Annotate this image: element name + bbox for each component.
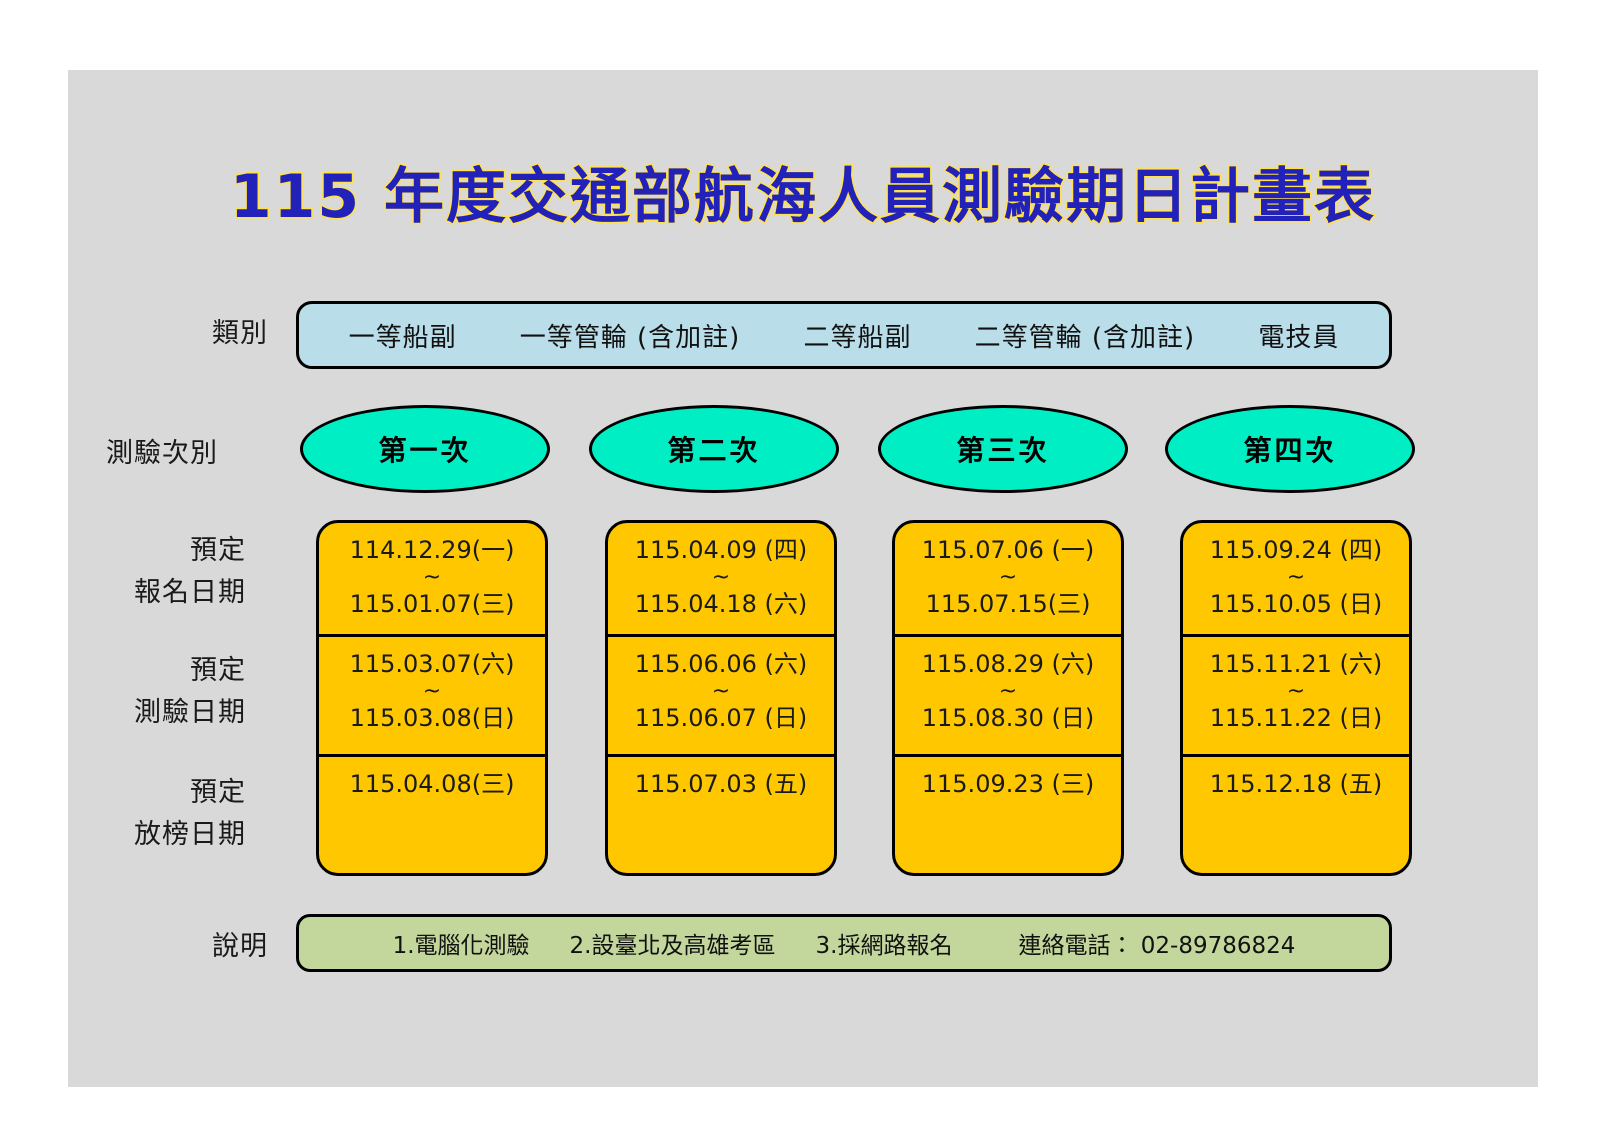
note-item-2: 3.採網路報名	[816, 926, 953, 960]
exam-end-4: 115.11.22 (日)	[1210, 704, 1383, 732]
date-column-session-3: 115.07.06 (一) ~ 115.07.15(三) 115.08.29 (…	[892, 520, 1124, 876]
exam-separator-4: ~	[1187, 681, 1405, 703]
session-ellipse-3: 第三次	[878, 405, 1128, 493]
exam-separator-1: ~	[323, 681, 541, 703]
exam-start-1: 115.03.07(六)	[350, 650, 515, 678]
registration-start-1: 114.12.29(一)	[350, 536, 515, 564]
row-label-notes: 說明	[68, 926, 268, 968]
session-ellipse-4: 第四次	[1165, 405, 1415, 493]
contact-phone: 連絡電話： 02-89786824	[1018, 926, 1295, 960]
exam-separator-3: ~	[899, 681, 1117, 703]
registration-separator-1: ~	[323, 567, 541, 589]
registration-cell-2: 115.04.09 (四) ~ 115.04.18 (六)	[608, 523, 834, 637]
exam-cell-4: 115.11.21 (六) ~ 115.11.22 (日)	[1183, 637, 1409, 757]
result-date-2: 115.07.03 (五)	[635, 770, 808, 798]
row-label-registration-line1: 預定	[46, 530, 246, 572]
notes-bar: 1.電腦化測驗 2.設臺北及高雄考區 3.採網路報名 連絡電話： 02-8978…	[296, 914, 1392, 972]
category-item-3: 二等管輪 (含加註)	[975, 317, 1196, 354]
row-label-result-line1: 預定	[46, 772, 246, 814]
row-label-session: 測驗次別	[18, 433, 218, 475]
row-label-exam-line2: 測驗日期	[6, 692, 246, 734]
date-column-session-2: 115.04.09 (四) ~ 115.04.18 (六) 115.06.06 …	[605, 520, 837, 876]
exam-end-3: 115.08.30 (日)	[922, 704, 1095, 732]
registration-start-3: 115.07.06 (一)	[922, 536, 1095, 564]
exam-start-4: 115.11.21 (六)	[1210, 650, 1383, 678]
result-cell-4: 115.12.18 (五)	[1183, 757, 1409, 873]
result-cell-1: 115.04.08(三)	[319, 757, 545, 873]
registration-cell-1: 114.12.29(一) ~ 115.01.07(三)	[319, 523, 545, 637]
registration-start-2: 115.04.09 (四)	[635, 536, 808, 564]
registration-end-1: 115.01.07(三)	[350, 590, 515, 618]
row-label-category: 類別	[68, 313, 268, 355]
row-label-exam-line1: 預定	[46, 650, 246, 692]
row-label-result-line2: 放榜日期	[6, 814, 246, 856]
registration-start-4: 115.09.24 (四)	[1210, 536, 1383, 564]
registration-end-2: 115.04.18 (六)	[635, 590, 808, 618]
date-column-session-1: 114.12.29(一) ~ 115.01.07(三) 115.03.07(六)…	[316, 520, 548, 876]
session-ellipse-1: 第一次	[300, 405, 550, 493]
result-date-1: 115.04.08(三)	[350, 770, 515, 798]
slide-canvas: 115 年度交通部航海人員測驗期日計畫表 類別 一等船副 一等管輪 (含加註) …	[68, 70, 1538, 1087]
result-date-3: 115.09.23 (三)	[922, 770, 1095, 798]
session-ellipse-2: 第二次	[589, 405, 839, 493]
exam-start-3: 115.08.29 (六)	[922, 650, 1095, 678]
date-column-session-4: 115.09.24 (四) ~ 115.10.05 (日) 115.11.21 …	[1180, 520, 1412, 876]
exam-cell-1: 115.03.07(六) ~ 115.03.08(日)	[319, 637, 545, 757]
exam-cell-2: 115.06.06 (六) ~ 115.06.07 (日)	[608, 637, 834, 757]
exam-separator-2: ~	[612, 681, 830, 703]
exam-end-2: 115.06.07 (日)	[635, 704, 808, 732]
registration-cell-3: 115.07.06 (一) ~ 115.07.15(三)	[895, 523, 1121, 637]
registration-separator-2: ~	[612, 567, 830, 589]
result-cell-3: 115.09.23 (三)	[895, 757, 1121, 873]
registration-separator-4: ~	[1187, 567, 1405, 589]
registration-cell-4: 115.09.24 (四) ~ 115.10.05 (日)	[1183, 523, 1409, 637]
row-label-registration-line2: 報名日期	[6, 572, 246, 614]
category-item-1: 一等管輪 (含加註)	[520, 317, 741, 354]
registration-end-4: 115.10.05 (日)	[1210, 590, 1383, 618]
row-label-exam: 預定 測驗日期	[46, 650, 246, 734]
result-cell-2: 115.07.03 (五)	[608, 757, 834, 873]
row-label-registration: 預定 報名日期	[46, 530, 246, 614]
row-label-result: 預定 放榜日期	[46, 772, 246, 856]
note-item-0: 1.電腦化測驗	[393, 926, 530, 960]
category-item-2: 二等船副	[803, 317, 911, 354]
exam-end-1: 115.03.08(日)	[350, 704, 515, 732]
category-item-4: 電技員	[1258, 317, 1339, 354]
page-title: 115 年度交通部航海人員測驗期日計畫表	[68, 148, 1538, 235]
category-bar: 一等船副 一等管輪 (含加註) 二等船副 二等管輪 (含加註) 電技員	[296, 301, 1392, 369]
exam-start-2: 115.06.06 (六)	[635, 650, 808, 678]
registration-separator-3: ~	[899, 567, 1117, 589]
registration-end-3: 115.07.15(三)	[926, 590, 1091, 618]
category-item-0: 一等船副	[349, 317, 457, 354]
note-item-1: 2.設臺北及高雄考區	[570, 926, 776, 960]
result-date-4: 115.12.18 (五)	[1210, 770, 1383, 798]
exam-cell-3: 115.08.29 (六) ~ 115.08.30 (日)	[895, 637, 1121, 757]
